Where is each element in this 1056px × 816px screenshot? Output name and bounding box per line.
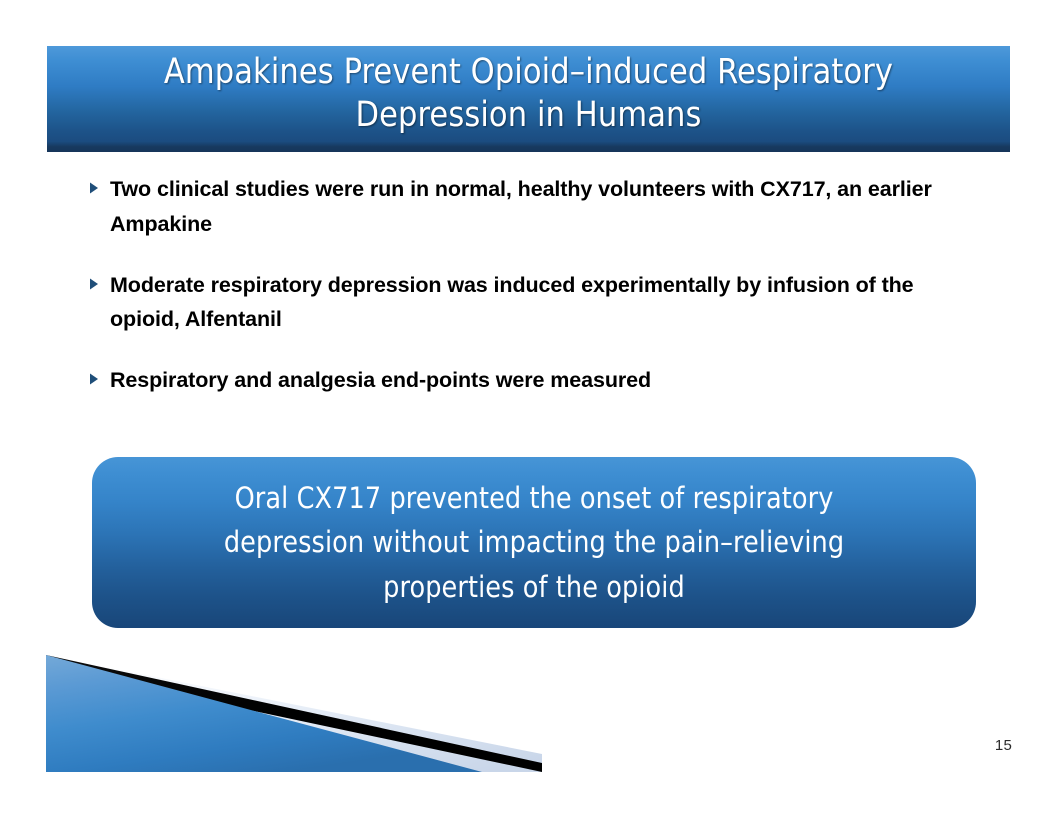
- triangle-right-icon: [88, 268, 110, 291]
- list-item-label: Moderate respiratory depression was indu…: [110, 268, 978, 338]
- page-title-line-2: Depression in Humans: [356, 95, 702, 135]
- triangle-right-icon: [88, 363, 110, 386]
- list-item-label: Two clinical studies were run in normal,…: [110, 172, 978, 242]
- conclusion-line-1: Oral CX717 prevented the onset of respir…: [235, 481, 834, 515]
- slide-canvas: Ampakines Prevent Opioid–induced Respira…: [0, 0, 1056, 816]
- list-item: Respiratory and analgesia end-points wer…: [88, 363, 978, 398]
- conclusion-callout-text: Oral CX717 prevented the onset of respir…: [101, 476, 967, 608]
- list-item: Moderate respiratory depression was indu…: [88, 268, 978, 338]
- slide-title-banner: Ampakines Prevent Opioid–induced Respira…: [47, 46, 1010, 152]
- triangle-right-icon: [88, 172, 110, 195]
- page-title: Ampakines Prevent Opioid–induced Respira…: [61, 51, 995, 146]
- list-item-label: Respiratory and analgesia end-points wer…: [110, 363, 978, 398]
- bullet-list: Two clinical studies were run in normal,…: [88, 172, 978, 424]
- conclusion-line-2: depression without impacting the pain–re…: [224, 525, 844, 559]
- page-number: 15: [995, 737, 1012, 754]
- conclusion-line-3: properties of the opioid: [383, 570, 685, 604]
- corner-banner-graphic: [46, 653, 542, 772]
- conclusion-callout-box: Oral CX717 prevented the onset of respir…: [92, 457, 976, 628]
- list-item: Two clinical studies were run in normal,…: [88, 172, 978, 242]
- page-title-line-1: Ampakines Prevent Opioid–induced Respira…: [164, 52, 893, 92]
